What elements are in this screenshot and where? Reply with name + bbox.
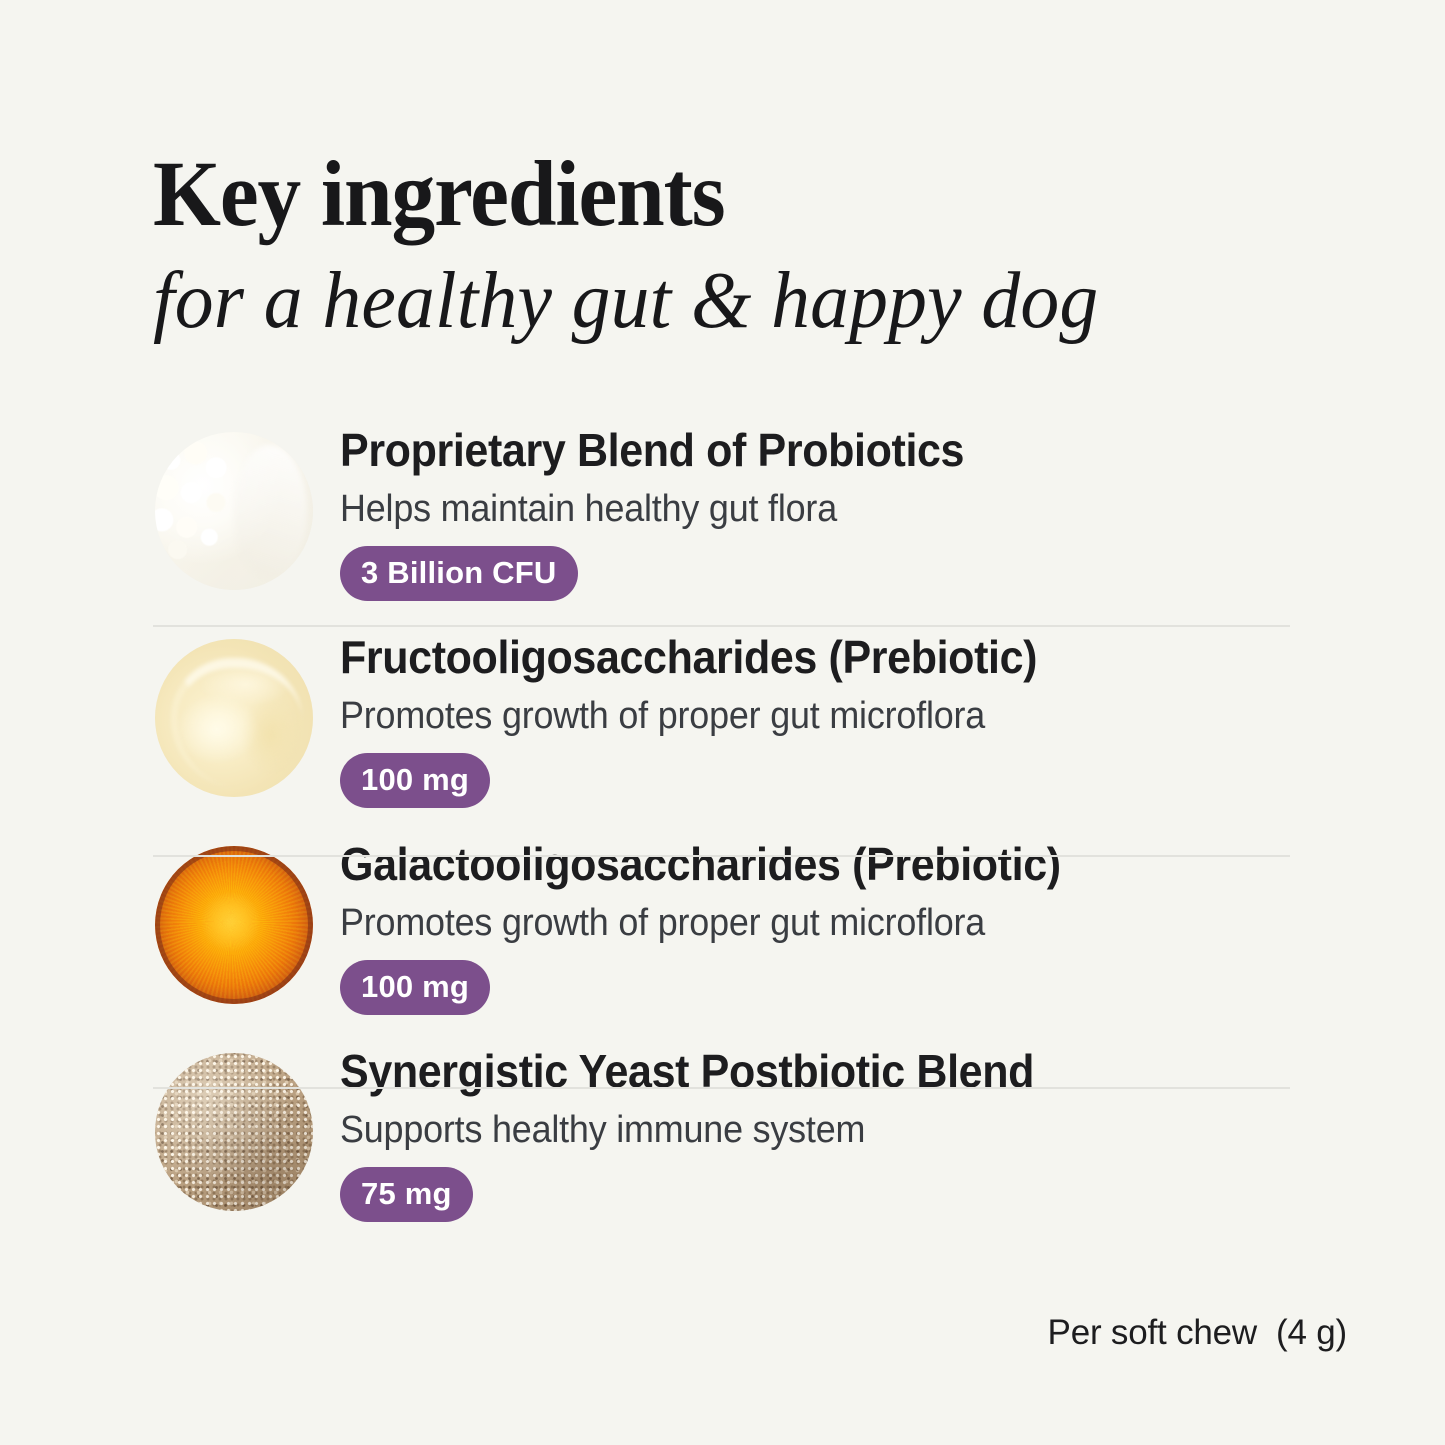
ingredient-description: Promotes growth of proper gut microflora xyxy=(340,695,1346,738)
amount-badge: 75 mg xyxy=(340,1167,473,1222)
yeast-granules-icon xyxy=(155,1053,313,1211)
list-item: Fructooligosaccharides (Prebiotic) Promo… xyxy=(0,625,1445,832)
list-item: Galactooligosaccharides (Prebiotic) Prom… xyxy=(0,832,1445,1039)
serving-size-note: Per soft chew (4 g) xyxy=(1048,1313,1347,1353)
ingredient-title: Fructooligosaccharides (Prebiotic) xyxy=(340,633,1336,683)
row-divider xyxy=(153,625,1290,627)
amount-badge: 100 mg xyxy=(340,753,490,808)
carrot-slice-icon xyxy=(155,846,313,1004)
cream-swirl-icon xyxy=(155,639,313,797)
ingredient-copy: Fructooligosaccharides (Prebiotic) Promo… xyxy=(340,633,1405,808)
ingredient-description: Promotes growth of proper gut microflora xyxy=(340,902,1346,945)
amount-badge: 3 Billion CFU xyxy=(340,546,578,601)
ingredient-copy: Galactooligosaccharides (Prebiotic) Prom… xyxy=(340,840,1405,1015)
ingredient-description: Helps maintain healthy gut flora xyxy=(340,488,1346,531)
amount-badge: 100 mg xyxy=(340,960,490,1015)
list-item: Synergistic Yeast Postbiotic Blend Suppo… xyxy=(0,1039,1445,1246)
ingredient-title: Galactooligosaccharides (Prebiotic) xyxy=(340,840,1336,890)
ingredient-copy: Proprietary Blend of Probiotics Helps ma… xyxy=(340,426,1405,601)
row-divider xyxy=(153,1087,1290,1089)
yogurt-probiotic-icon xyxy=(155,432,313,590)
page-subtitle: for a healthy gut & happy dog xyxy=(153,259,1298,343)
ingredient-copy: Synergistic Yeast Postbiotic Blend Suppo… xyxy=(340,1047,1405,1222)
key-ingredients-infographic: Key ingredients for a healthy gut & happ… xyxy=(0,0,1445,1445)
row-divider xyxy=(153,855,1290,857)
ingredient-description: Supports healthy immune system xyxy=(340,1109,1346,1152)
page-title: Key ingredients xyxy=(153,148,1262,241)
ingredient-title: Synergistic Yeast Postbiotic Blend xyxy=(340,1047,1336,1097)
ingredient-title: Proprietary Blend of Probiotics xyxy=(340,426,1336,476)
page-heading: Key ingredients for a healthy gut & happ… xyxy=(153,148,1333,343)
ingredient-list: Proprietary Blend of Probiotics Helps ma… xyxy=(0,418,1445,1246)
list-item: Proprietary Blend of Probiotics Helps ma… xyxy=(0,418,1445,625)
